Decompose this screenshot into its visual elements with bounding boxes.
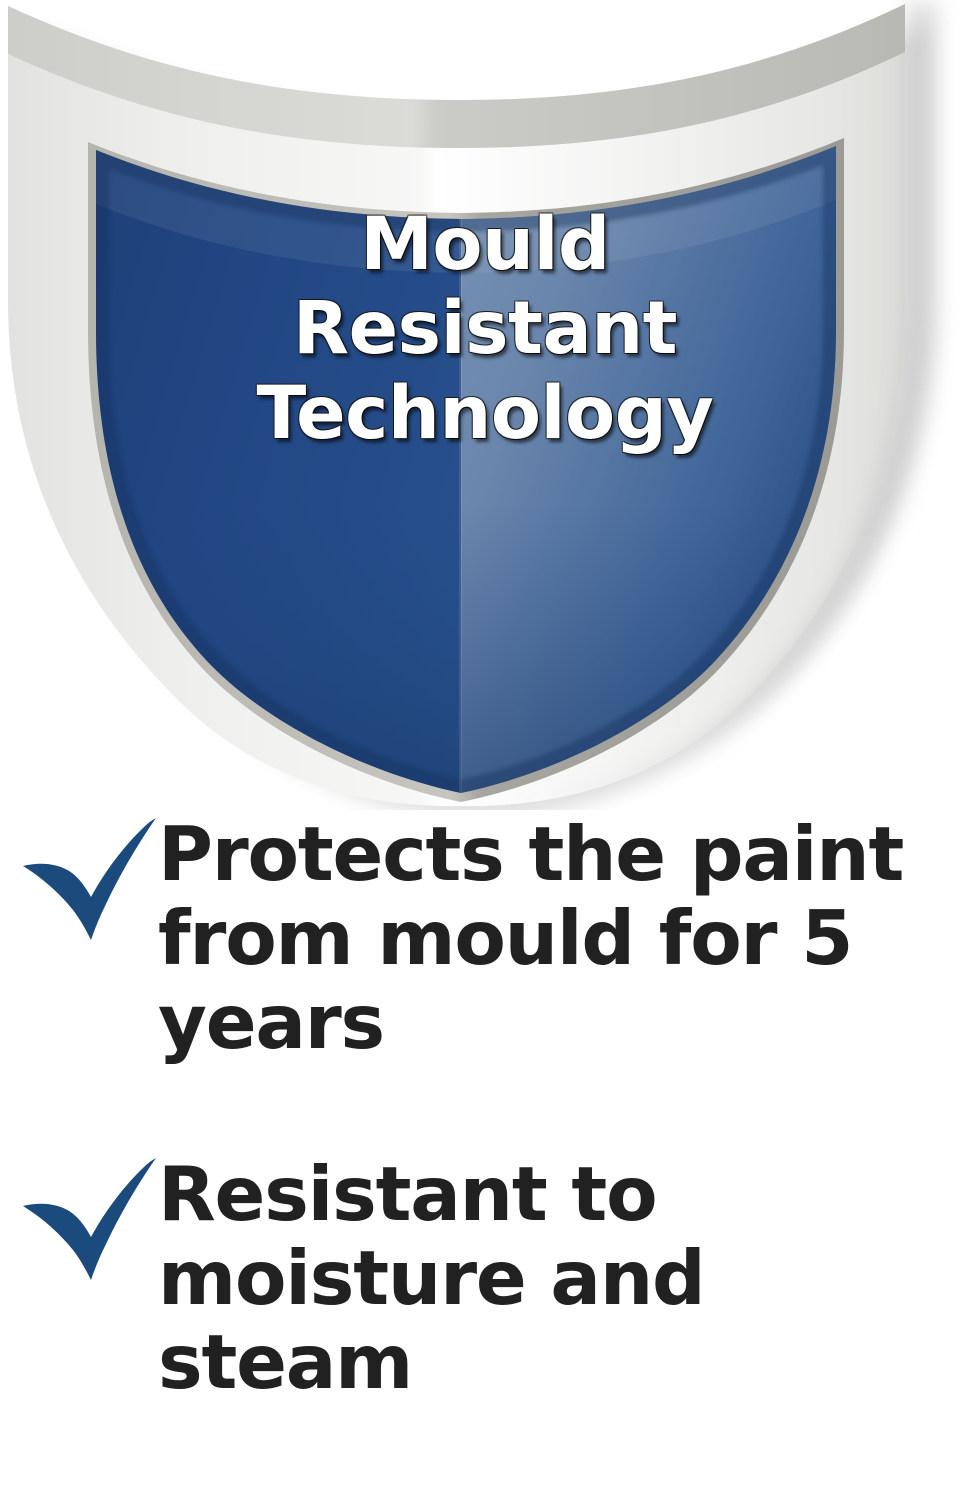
benefit-text: Resistant to moisture and steam bbox=[158, 1152, 970, 1404]
check-mark-icon-glyph bbox=[18, 1158, 158, 1283]
check-mark-icon bbox=[0, 1152, 158, 1283]
check-mark-icon-glyph bbox=[18, 818, 158, 943]
list-item: Protects the paint from mould for 5 year… bbox=[0, 812, 970, 1064]
shield-graphic bbox=[0, 0, 970, 810]
benefit-text: Protects the paint from mould for 5 year… bbox=[158, 812, 970, 1064]
list-item: Resistant to moisture and steam bbox=[0, 1152, 970, 1404]
benefits-list: Protects the paint from mould for 5 year… bbox=[0, 812, 970, 1410]
check-mark-icon bbox=[0, 812, 158, 943]
shield-badge: Mould Resistant Technology bbox=[0, 0, 970, 810]
product-feature-graphic: Mould Resistant Technology Protects the … bbox=[0, 0, 970, 1500]
